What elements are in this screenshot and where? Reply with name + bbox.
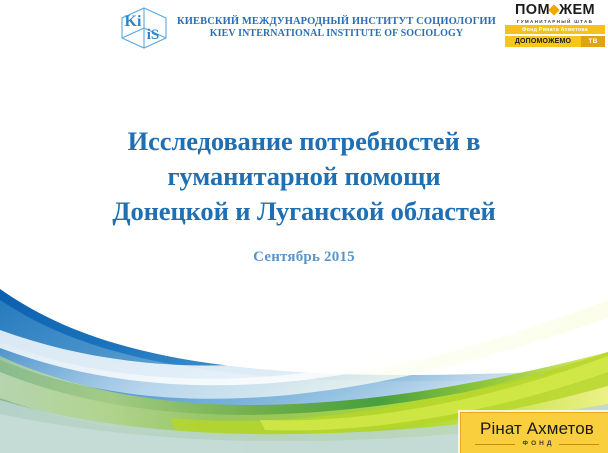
svg-text:iS: iS bbox=[147, 27, 160, 43]
pomozhem-bottom-bar: ДОПОМОЖЕМО ТВ bbox=[505, 36, 605, 47]
title-line-2: гуманитарной помощи bbox=[24, 159, 584, 194]
divider-line-left bbox=[475, 444, 515, 445]
presentation-slide: Ki iS КИЕВСКИЙ МЕЖДУНАРОДНЫЙ ИНСТИТУТ СО… bbox=[0, 0, 608, 453]
pomozhem-logo: ПОМ ЖЕМ ГУМАНИТАРНЫЙ ШТАБ Фонд Рината Ах… bbox=[505, 2, 605, 47]
rinat-akhmetov-fund-logo: Рінат Ахметов ФОНД bbox=[460, 412, 608, 453]
pomozhem-fund-line: Фонд Рината Ахметова bbox=[505, 25, 605, 34]
slide-header: Ki iS КИЕВСКИЙ МЕЖДУНАРОДНЫЙ ИНСТИТУТ СО… bbox=[0, 0, 608, 52]
svg-text:Ki: Ki bbox=[125, 13, 142, 30]
kiis-name-ru: КИЕВСКИЙ МЕЖДУНАРОДНЫЙ ИНСТИТУТ СОЦИОЛОГ… bbox=[177, 15, 496, 28]
dopomozhemo-tv-label: ТВ bbox=[581, 36, 605, 47]
kiis-name-en: KIEV INTERNATIONAL INSTITUTE OF SOCIOLOG… bbox=[210, 28, 463, 41]
title-line-1: Исследование потребностей в bbox=[24, 124, 584, 159]
fund-subtitle: ФОНД bbox=[520, 441, 555, 448]
kiis-logo: Ki iS КИЕВСКИЙ МЕЖДУНАРОДНЫЙ ИНСТИТУТ СО… bbox=[118, 6, 496, 50]
fund-name: Рінат Ахметов bbox=[480, 420, 594, 437]
pomozhem-word-part1: ПОМ bbox=[515, 3, 550, 18]
title-block: Исследование потребностей в гуманитарной… bbox=[0, 124, 608, 266]
subtitle-date: Сентябрь 2015 bbox=[0, 249, 608, 266]
page-title: Исследование потребностей в гуманитарной… bbox=[0, 124, 608, 229]
pomozhem-wordmark: ПОМ ЖЕМ bbox=[505, 2, 605, 18]
dopomozhemo-label: ДОПОМОЖЕМО bbox=[505, 36, 581, 47]
fund-divider: ФОНД bbox=[475, 441, 599, 448]
pomozhem-word-part2: ЖЕМ bbox=[559, 3, 595, 18]
divider-line-right bbox=[559, 444, 599, 445]
kiis-cube-logo-icon: Ki iS bbox=[118, 6, 170, 50]
title-line-3: Донецкой и Луганской областей bbox=[24, 194, 584, 229]
pomozhem-tagline: ГУМАНИТАРНЫЙ ШТАБ bbox=[505, 19, 605, 24]
